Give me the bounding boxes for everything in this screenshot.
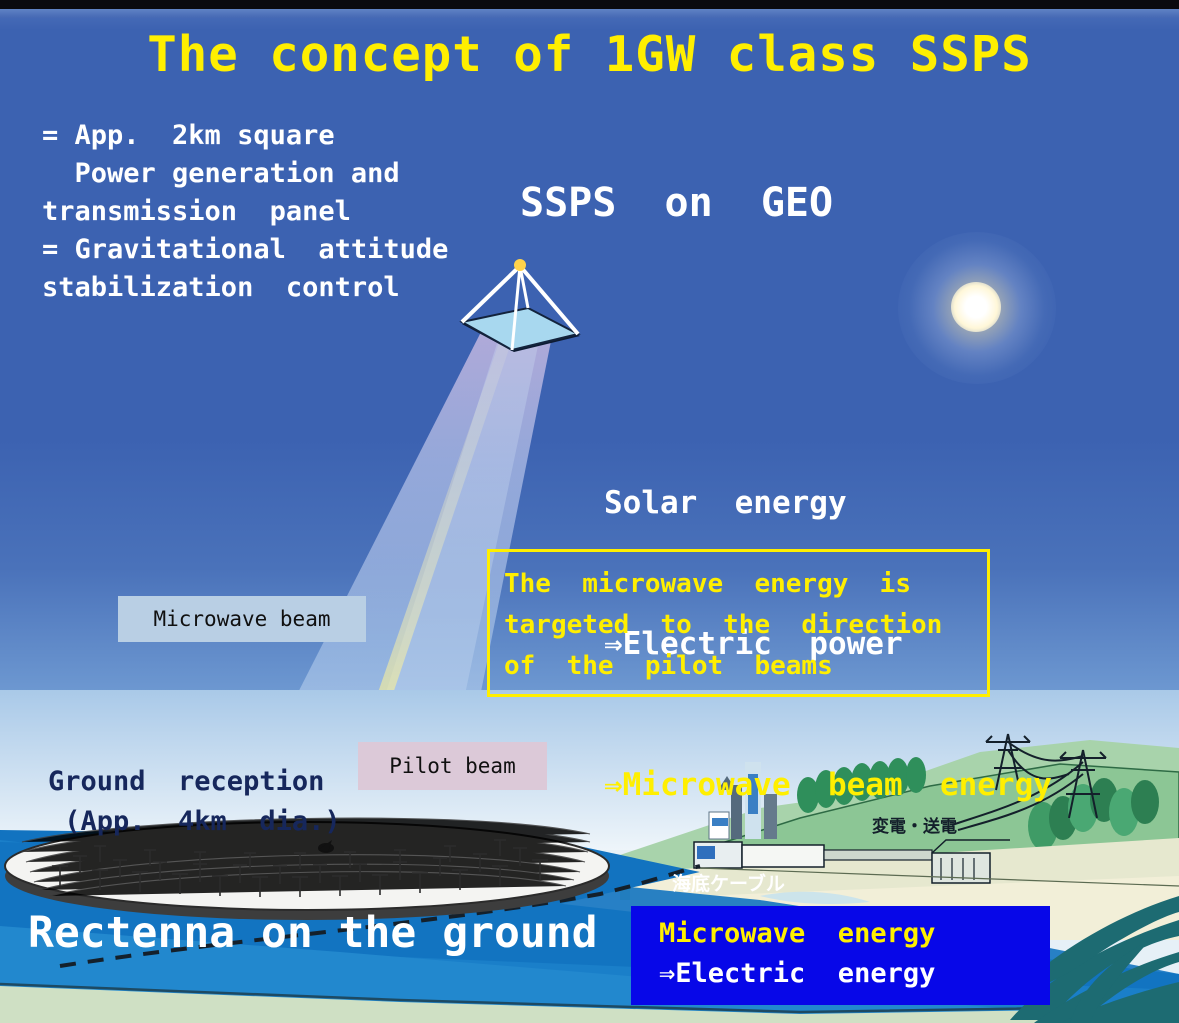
satellite-label: SSPS on GEO bbox=[520, 180, 833, 226]
spec-line-2: Power generation and bbox=[42, 158, 400, 189]
targeting-callout-box: The microwave energy is targeted to the … bbox=[487, 549, 990, 697]
sun-core bbox=[951, 282, 1001, 332]
spec-line-3: transmission panel bbox=[42, 196, 351, 227]
spec-list: = App. 2km square Power generation and t… bbox=[42, 117, 448, 307]
conversion-line-1: Microwave energy bbox=[659, 918, 935, 949]
page-title: The concept of 1GW class SSPS bbox=[0, 26, 1179, 83]
ground-reception-label: Ground reception (App. 4km dia.) bbox=[48, 762, 341, 842]
rectenna-caption: Rectenna on the ground bbox=[28, 908, 598, 958]
substation-label: 変電・送電 bbox=[872, 812, 957, 837]
microwave-beam-label: Microwave beam bbox=[118, 596, 366, 642]
energy-line-microwave: ⇒Microwave beam energy bbox=[604, 762, 1052, 809]
callout-line-1: The microwave energy is bbox=[504, 569, 911, 599]
callout-line-3: of the pilot beams bbox=[504, 651, 833, 681]
conversion-line-2: ⇒Electric energy bbox=[659, 958, 935, 989]
spec-line-5: stabilization control bbox=[42, 272, 400, 303]
conversion-callout-box: Microwave energy ⇒Electric energy bbox=[631, 906, 1050, 1005]
pilot-beam-label: Pilot beam bbox=[358, 742, 547, 790]
slide-canvas: The concept of 1GW class SSPS = App. 2km… bbox=[0, 0, 1179, 1023]
apex-node bbox=[514, 259, 526, 271]
spec-line-1: = App. 2km square bbox=[42, 120, 335, 151]
top-blue-strip bbox=[0, 9, 1179, 18]
callout-line-2: targeted to the direction bbox=[504, 610, 942, 640]
ground-reception-line-1: Ground reception bbox=[48, 766, 324, 797]
spec-line-4: = Gravitational attitude bbox=[42, 234, 448, 265]
energy-line-solar: Solar energy bbox=[604, 480, 1052, 527]
targeting-callout-text: The microwave energy is targeted to the … bbox=[504, 564, 942, 687]
top-black-bar bbox=[0, 0, 1179, 9]
submarine-cable-label: 海底ケーブル bbox=[672, 869, 785, 896]
ssps-satellite bbox=[440, 252, 600, 372]
ground-reception-line-2: (App. 4km dia.) bbox=[48, 806, 341, 837]
